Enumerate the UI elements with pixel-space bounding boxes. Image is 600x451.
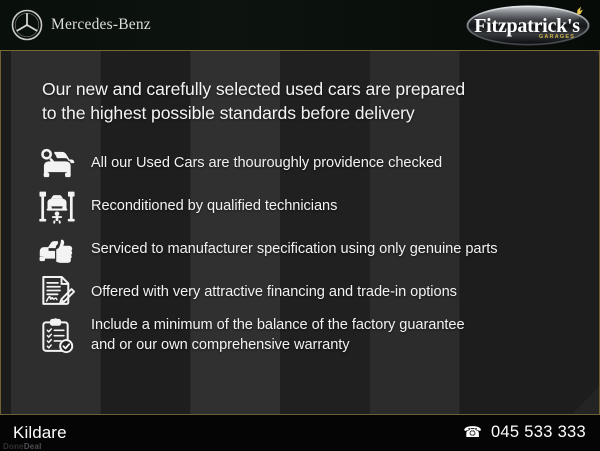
headline-line-2: to the highest possible standards before… xyxy=(42,101,575,125)
list-item-line-1: Offered with very attractive financing a… xyxy=(91,284,457,300)
list-item-text: Offered with very attractive financing a… xyxy=(91,283,457,303)
location-label: Kildare xyxy=(13,423,67,443)
list-item-line-1: Include a minimum of the balance of the … xyxy=(91,317,465,333)
headline-line-1: Our new and carefully selected used cars… xyxy=(42,79,465,99)
svg-text:GARAGES: GARAGES xyxy=(539,34,575,40)
telephone-icon: ☎ xyxy=(463,425,482,440)
phone-contact[interactable]: ☎ 045 533 333 xyxy=(463,423,586,442)
advert-content: Our new and carefully selected used cars… xyxy=(1,51,599,358)
car-lift-technician-icon xyxy=(37,188,77,226)
fitzpatricks-garages-logo: Fitzpatrick's GARAGES xyxy=(464,3,592,48)
phone-number[interactable]: 045 533 333 xyxy=(491,423,586,442)
list-item: All our Used Cars are thouroughly provid… xyxy=(37,143,589,186)
list-item: Offered with very attractive financing a… xyxy=(37,272,589,315)
mercedes-benz-brand: Mercedes-Benz xyxy=(0,9,151,41)
list-item: Reconditioned by qualified technicians xyxy=(37,186,589,229)
list-item-text: Reconditioned by qualified technicians xyxy=(91,197,337,217)
feature-list: All our Used Cars are thouroughly provid… xyxy=(1,143,599,358)
list-item-line-1: Serviced to manufacturer specification u… xyxy=(91,241,498,257)
list-item-line-1: All our Used Cars are thouroughly provid… xyxy=(91,155,442,171)
car-magnifier-icon xyxy=(37,145,77,183)
list-item-line-2: and or our own comprehensive warranty xyxy=(91,336,465,356)
list-item-text: All our Used Cars are thouroughly provid… xyxy=(91,154,442,174)
list-item-text: Serviced to manufacturer specification u… xyxy=(91,240,498,260)
advert-card: Mercedes-Benz xyxy=(0,0,600,450)
advert-body: Our new and carefully selected used cars… xyxy=(0,51,600,414)
list-item: Serviced to manufacturer specification u… xyxy=(37,229,589,272)
document-signature-icon xyxy=(37,274,77,312)
footer-bar: Kildare ☎ 045 533 333 DoneDeal xyxy=(0,414,600,450)
car-thumbs-up-icon xyxy=(37,231,77,269)
clipboard-checklist-icon xyxy=(37,317,77,355)
mercedes-star-icon xyxy=(11,9,43,41)
list-item-line-1: Reconditioned by qualified technicians xyxy=(91,198,337,214)
brand-name: Mercedes-Benz xyxy=(51,16,151,34)
headline: Our new and carefully selected used cars… xyxy=(1,77,599,126)
list-item-text: Include a minimum of the balance of the … xyxy=(91,316,465,356)
header-bar: Mercedes-Benz xyxy=(0,0,600,51)
list-item: Include a minimum of the balance of the … xyxy=(37,315,589,358)
